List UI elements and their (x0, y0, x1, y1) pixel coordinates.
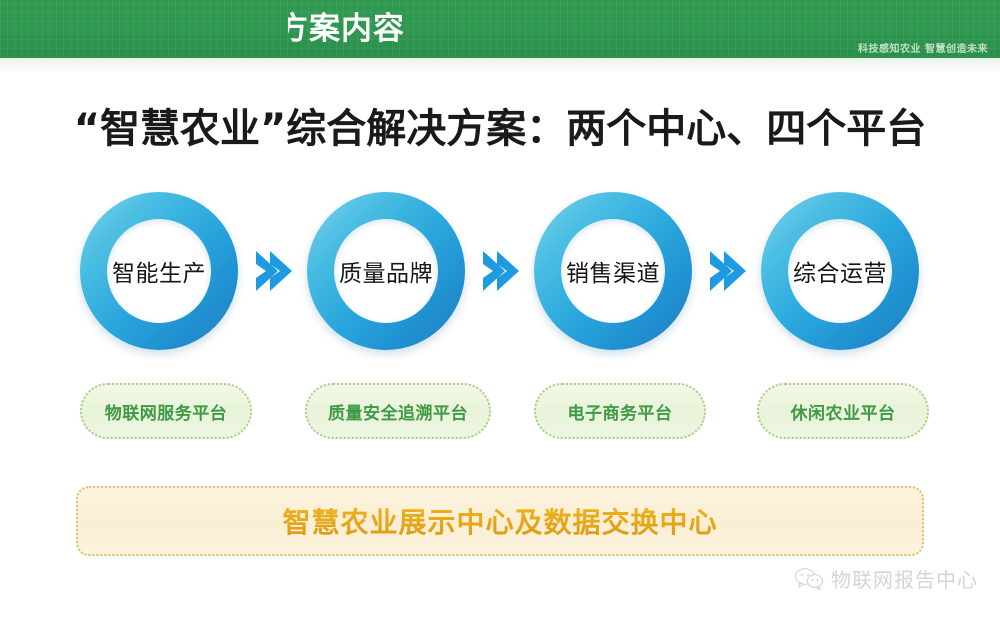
process-circle-2[interactable]: 质量品牌 (307, 192, 465, 350)
process-circle-1[interactable]: 智能生产 (80, 192, 238, 350)
platform-pill-label: 物联网服务平台 (105, 399, 228, 424)
header-band (0, 0, 1000, 58)
process-circle-3[interactable]: 销售渠道 (534, 192, 692, 350)
process-circle-4[interactable]: 综合运营 (761, 192, 919, 350)
platform-pill-2[interactable]: 质量安全追溯平台 (305, 383, 491, 439)
platform-pill-3[interactable]: 电子商务平台 (534, 383, 706, 439)
chevron-right-icon (706, 248, 750, 294)
slide-canvas: 方案内容 科技感知农业 智慧创造未来 “智慧农业”综合解决方案：两个中心、四个平… (0, 0, 1000, 625)
center-banner[interactable]: 智慧农业展示中心及数据交换中心 (76, 486, 924, 556)
chevron-right-icon (252, 248, 296, 294)
platform-pill-label: 休闲农业平台 (791, 399, 896, 424)
process-circle-label: 质量品牌 (307, 192, 465, 350)
platform-pill-4[interactable]: 休闲农业平台 (757, 383, 929, 439)
platform-pill-label: 电子商务平台 (568, 399, 673, 424)
platform-pill-1[interactable]: 物联网服务平台 (80, 383, 252, 439)
center-banner-label: 智慧农业展示中心及数据交换中心 (282, 501, 717, 541)
process-circle-label: 综合运营 (761, 192, 919, 350)
chevron-right-icon (479, 248, 523, 294)
process-circle-label: 智能生产 (80, 192, 238, 350)
platform-pill-label: 质量安全追溯平台 (328, 399, 468, 424)
header-title: 方案内容 (288, 9, 438, 49)
process-circle-label: 销售渠道 (534, 192, 692, 350)
wechat-icon (794, 567, 824, 591)
header-tagline: 科技感知农业 智慧创造未来 (858, 40, 988, 55)
page-title: “智慧农业”综合解决方案：两个中心、四个平台 (0, 96, 1000, 154)
watermark-text: 物联网报告中心 (831, 564, 978, 593)
watermark: 物联网报告中心 (794, 564, 978, 593)
header-underglow (0, 58, 1000, 74)
process-flow: 智能生产 质量品牌 销售渠道 综合运营 (0, 192, 1000, 352)
